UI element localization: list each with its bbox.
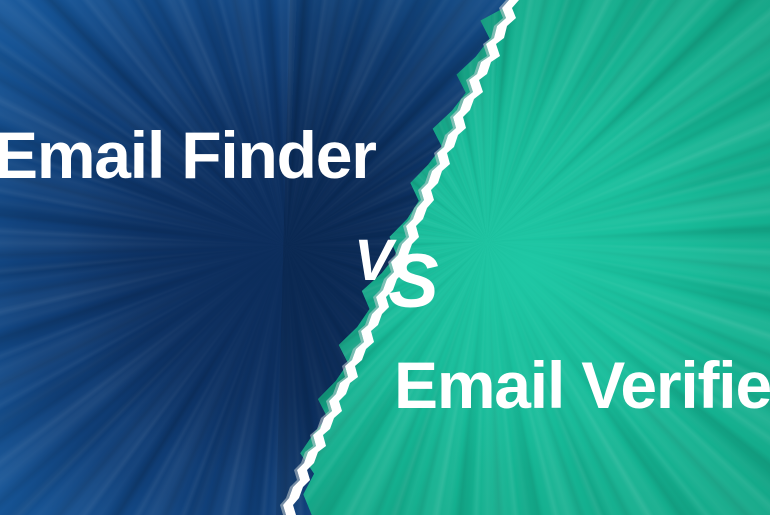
versus-banner: Email Finder Email Verifier V S <box>0 0 770 515</box>
versus-letter-v: V <box>354 232 390 290</box>
versus-mark: V S <box>352 232 444 324</box>
headline-email-verifier: Email Verifier <box>394 352 770 418</box>
versus-letter-s: S <box>388 244 436 320</box>
headline-email-finder: Email Finder <box>0 122 376 188</box>
